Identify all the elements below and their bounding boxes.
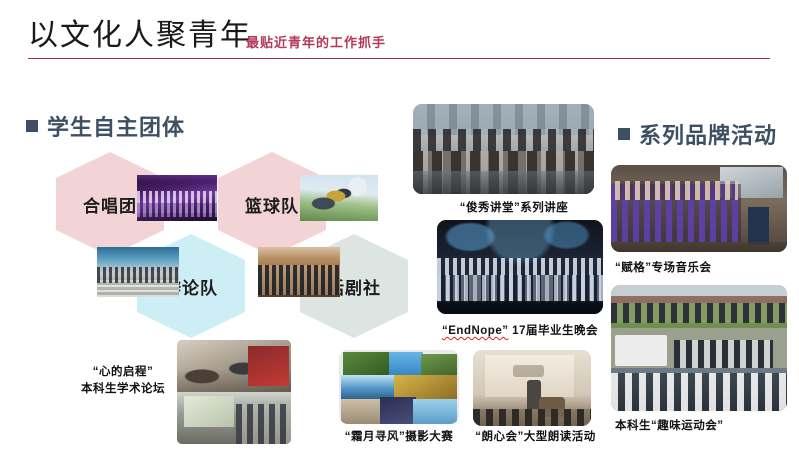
photo-detail (341, 399, 384, 424)
photo-graduation-party (437, 220, 603, 314)
photo-reading-event (473, 350, 591, 426)
photo-detail (300, 175, 378, 221)
slide-title-block: 以文化人聚青年 最贴近青年的工作抓手 (28, 18, 770, 64)
photo-sports-meet (611, 285, 787, 411)
photo-lecture-hall (413, 104, 594, 194)
caption-graduation-title: “EndNope” (442, 325, 508, 337)
photo-academic-forum (177, 340, 291, 444)
hexagon-label: 篮球队 (245, 192, 299, 217)
photo-drama-hexagon (258, 247, 340, 297)
page-title: 以文化人聚青年 (28, 18, 252, 54)
photo-basketball-hexagon (300, 175, 378, 221)
photo-detail (97, 267, 179, 283)
caption-lecture-series: “俊秀讲堂”系列讲座 (444, 199, 584, 215)
photo-detail (413, 399, 456, 424)
photo-detail (413, 171, 594, 194)
caption-sports-meet: 本科生“趣味运动会” (615, 417, 765, 433)
section-heading-label: 系列品牌活动 (639, 118, 777, 150)
caption-line2: 本科生学术论坛 (81, 383, 165, 395)
photo-detail (611, 242, 787, 252)
section-heading-label: 学生自主团体 (47, 110, 185, 142)
photo-detail (380, 397, 416, 424)
photo-detail (615, 335, 668, 365)
photo-concert-choir (611, 165, 787, 252)
photo-photography-contest (339, 350, 459, 424)
caption-academic-forum: “心的启程” 本科生学术论坛 (72, 364, 174, 398)
photo-detail (611, 373, 787, 411)
photo-detail (343, 352, 389, 377)
caption-photo-contest: “霜月寻风”摄影大赛 (334, 428, 464, 444)
photo-detail (137, 175, 217, 191)
photo-detail (248, 346, 289, 386)
photo-detail (674, 340, 773, 370)
square-bullet-icon (618, 128, 630, 140)
caption-reading-event: “朗心会”大型朗读活动 (468, 428, 603, 444)
page-subtitle: 最贴近青年的工作抓手 (246, 34, 386, 52)
section-heading-brand-activities: 系列品牌活动 (618, 118, 777, 150)
photo-detail (437, 301, 603, 314)
photo-detail (184, 396, 234, 427)
caption-line1: “心的启程” (93, 366, 154, 378)
photo-detail (236, 404, 291, 444)
hexagon-label: 合唱团 (83, 192, 137, 217)
caption-graduation-party: “EndNope” 17届毕业生晚会 (437, 322, 603, 338)
photo-detail (473, 409, 591, 426)
photo-detail (615, 181, 738, 200)
photo-detail (513, 365, 544, 377)
photo-detail (258, 265, 340, 295)
photo-detail (748, 207, 769, 245)
photo-detail (258, 247, 340, 265)
section-heading-student-groups: 学生自主团体 (26, 110, 185, 142)
photo-detail (611, 303, 787, 323)
caption-concert: “赋格”专场音乐会 (615, 259, 755, 275)
caption-graduation-rest: 17届毕业生晚会 (508, 325, 598, 337)
photo-detail (437, 275, 603, 303)
slide-root: 以文化人聚青年 最贴近青年的工作抓手 学生自主团体 系列品牌活动 合唱团 篮球队… (0, 0, 799, 450)
photo-choir-hexagon (137, 175, 217, 221)
title-divider (28, 58, 770, 59)
square-bullet-icon (26, 120, 38, 132)
photo-debate-hexagon (97, 247, 179, 297)
photo-detail (137, 203, 217, 217)
